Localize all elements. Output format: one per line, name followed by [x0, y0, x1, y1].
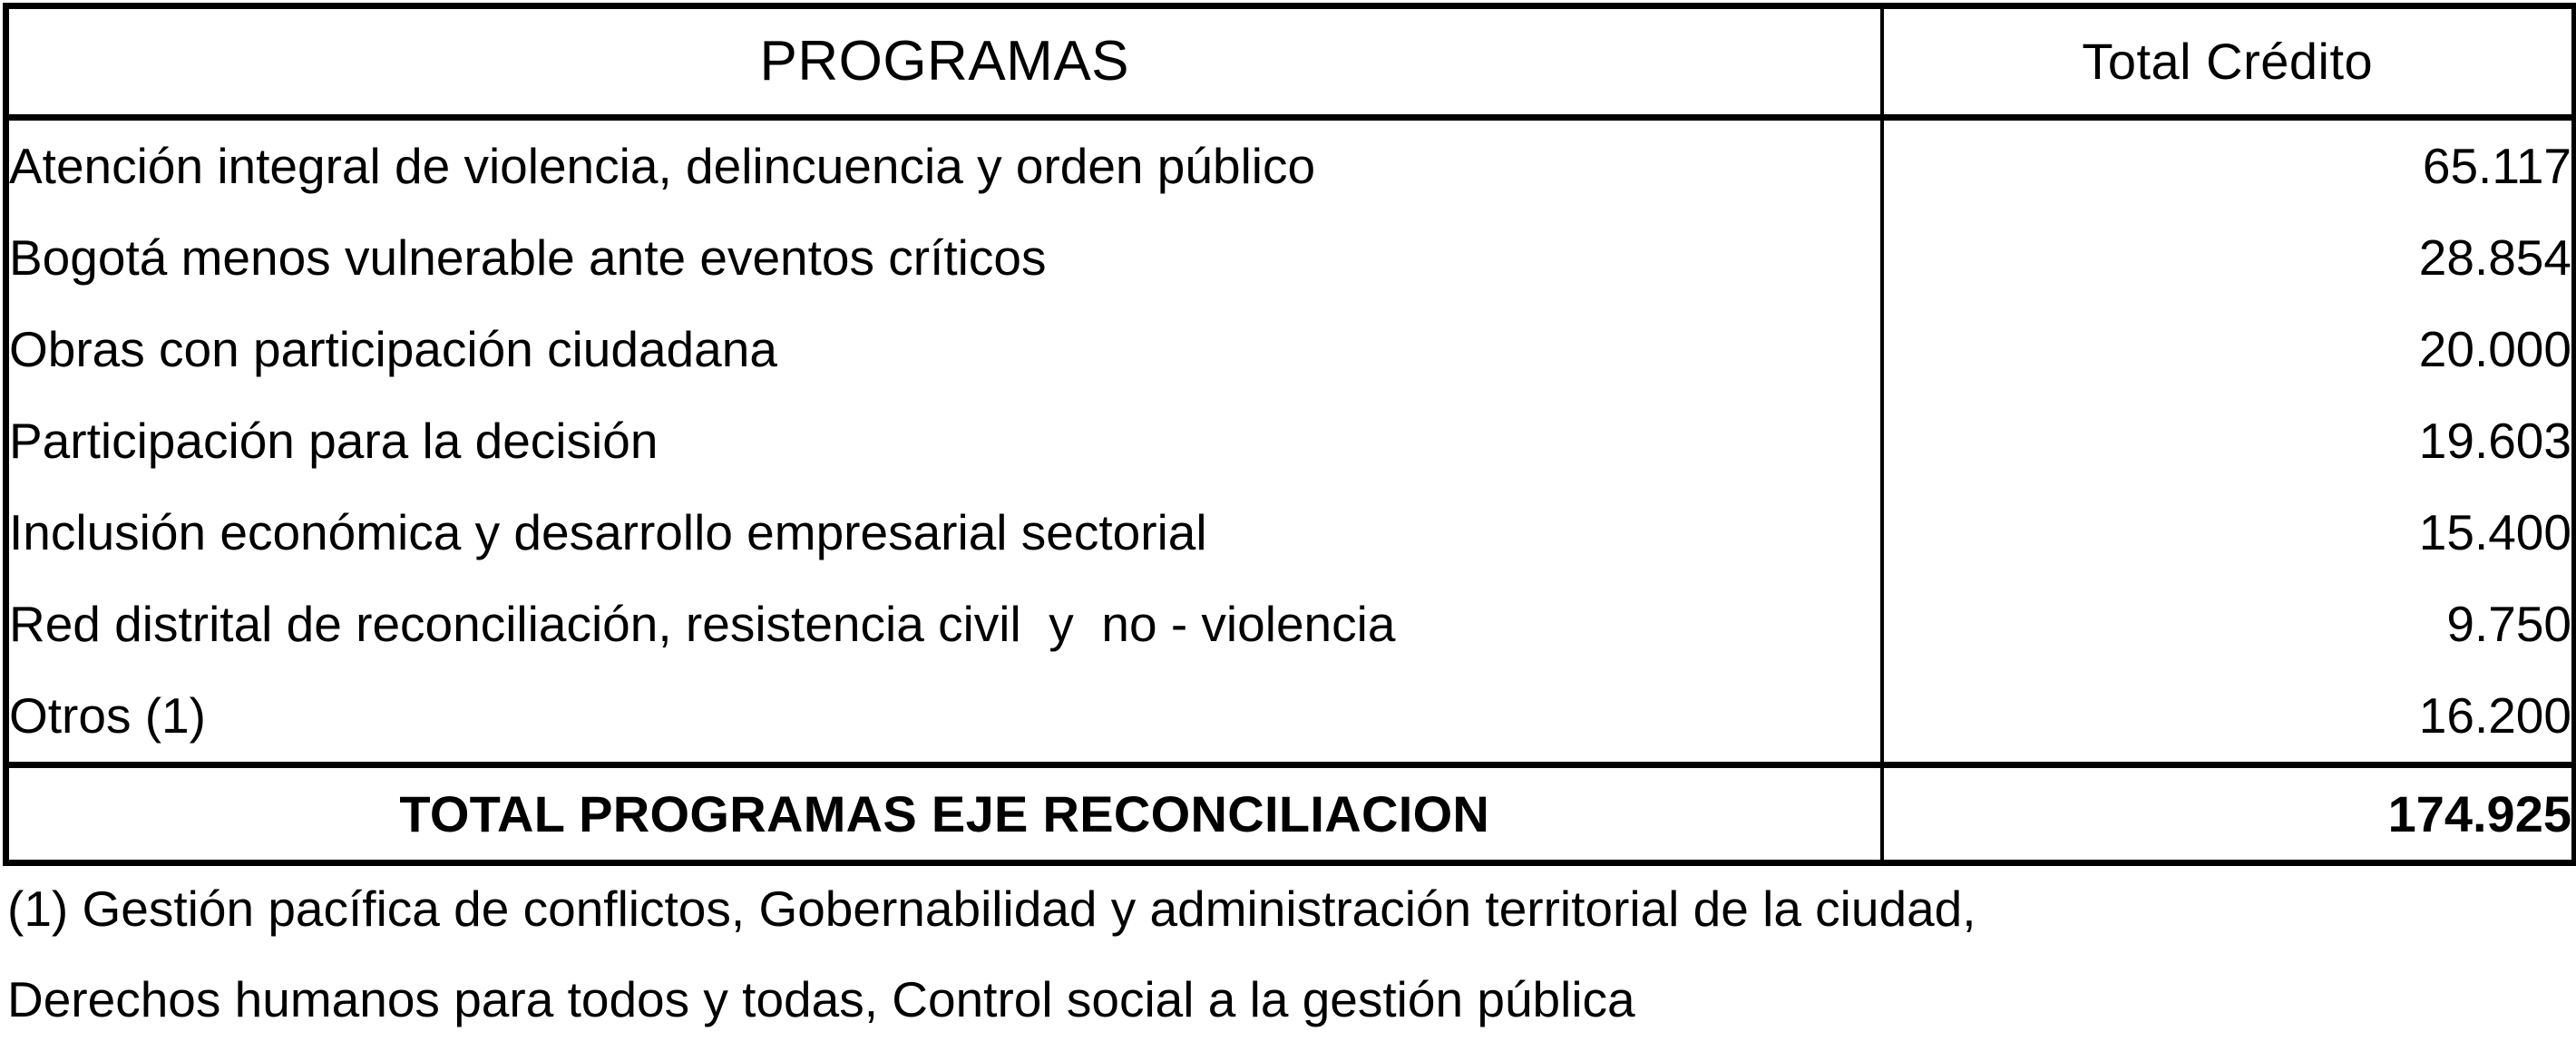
table-row: Red distrital de reconciliación, resiste…: [6, 579, 2575, 670]
program-amount-cell: 65.117: [1882, 118, 2575, 213]
table-row: Obras con participación ciudadana 20.000: [6, 304, 2575, 395]
program-amount-cell: 20.000: [1882, 304, 2575, 395]
table-header: PROGRAMAS Total Crédito: [6, 6, 2575, 118]
total-amount-cell: 174.925: [1882, 765, 2575, 863]
table-row: Inclusión económica y desarrollo empresa…: [6, 487, 2575, 579]
table-body: Atención integral de violencia, delincue…: [6, 118, 2575, 863]
footnotes: (1) Gestión pacífica de conflictos, Gobe…: [7, 863, 2574, 1045]
program-amount-cell: 9.750: [1882, 579, 2575, 670]
table-total-row: TOTAL PROGRAMAS EJE RECONCILIACION 174.9…: [6, 765, 2575, 863]
program-name-cell: Red distrital de reconciliación, resiste…: [6, 579, 1882, 670]
programs-budget-table: PROGRAMAS Total Crédito Atención integra…: [3, 3, 2576, 866]
program-amount-cell: 19.603: [1882, 395, 2575, 487]
program-amount-cell: 15.400: [1882, 487, 2575, 579]
table-row: Bogotá menos vulnerable ante eventos crí…: [6, 212, 2575, 304]
budget-table-sheet: PROGRAMAS Total Crédito Atención integra…: [0, 0, 2576, 1051]
column-header-total-credito: Total Crédito: [1882, 6, 2575, 118]
program-amount-cell: 28.854: [1882, 212, 2575, 304]
program-amount-cell: 16.200: [1882, 670, 2575, 765]
table-row: Participación para la decisión 19.603: [6, 395, 2575, 487]
header-row: PROGRAMAS Total Crédito: [6, 6, 2575, 118]
total-label-cell: TOTAL PROGRAMAS EJE RECONCILIACION: [6, 765, 1882, 863]
column-header-programas: PROGRAMAS: [6, 6, 1882, 118]
program-name-cell: Atención integral de violencia, delincue…: [6, 118, 1882, 213]
table-row: Atención integral de violencia, delincue…: [6, 118, 2575, 213]
program-name-cell: Otros (1): [6, 670, 1882, 765]
table-row: Otros (1) 16.200: [6, 670, 2575, 765]
program-name-cell: Obras con participación ciudadana: [6, 304, 1882, 395]
program-name-cell: Participación para la decisión: [6, 395, 1882, 487]
footnote-line-1: (1) Gestión pacífica de conflictos, Gobe…: [7, 863, 2574, 954]
program-name-cell: Inclusión económica y desarrollo empresa…: [6, 487, 1882, 579]
footnote-line-2: Derechos humanos para todos y todas, Con…: [7, 954, 2574, 1045]
program-name-cell: Bogotá menos vulnerable ante eventos crí…: [6, 212, 1882, 304]
